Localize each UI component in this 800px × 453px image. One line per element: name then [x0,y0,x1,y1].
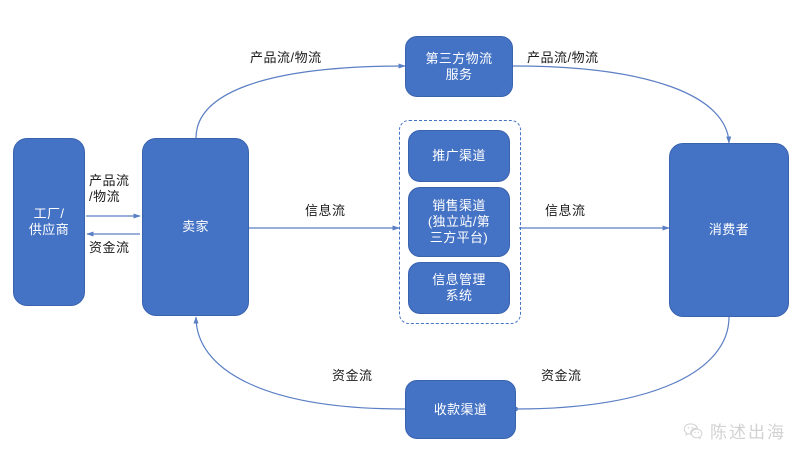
label-capital-flow-bottom-right: 资金流 [541,368,582,384]
wechat-icon [682,420,704,442]
node-seller-label: 卖家 [143,219,248,235]
label-product-flow-top-left: 产品流/物流 [250,50,322,66]
watermark-text: 陈述出海 [710,418,786,443]
label-info-flow-right: 信息流 [545,203,586,219]
node-factory-supplier[interactable]: 工厂/ 供应商 [13,138,85,306]
edge-logistics-to-consumer-product [513,66,729,143]
node-logistics-label-1: 第三方物流 [406,51,512,67]
node-seller[interactable]: 卖家 [142,138,249,316]
edge-payment-to-seller-capital [196,317,405,409]
node-payment-label: 收款渠道 [406,402,515,418]
node-consumer-label: 消费者 [670,222,788,238]
node-sales-label-3: 三方平台) [409,230,509,246]
node-sales-label-2: (独立站/第 [409,214,509,230]
edge-consumer-to-payment-capital [516,317,729,409]
node-payment-channel[interactable]: 收款渠道 [405,380,516,439]
node-third-party-logistics[interactable]: 第三方物流 服务 [405,36,513,97]
node-sales-channel[interactable]: 销售渠道 (独立站/第 三方平台) [408,187,510,257]
node-sales-label-1: 销售渠道 [409,198,509,214]
node-factory-label-1: 工厂/ [14,206,84,222]
node-consumer[interactable]: 消费者 [669,143,789,317]
label-product-flow-factory-1: 产品流 [89,173,147,189]
node-info-system-label-1: 信息管理 [409,272,509,288]
node-factory-label-2: 供应商 [14,222,84,238]
watermark: 陈述出海 [682,418,786,443]
edge-seller-to-logistics-product [196,66,405,138]
node-logistics-label-2: 服务 [406,67,512,83]
label-capital-flow-factory: 资金流 [89,240,130,256]
label-product-flow-factory-2: /物流 [89,189,147,205]
node-info-system-label-2: 系统 [409,288,509,304]
diagram-canvas: 工厂/ 供应商 卖家 第三方物流 服务 推广渠道 销售渠道 (独立站/第 三方平… [0,0,800,453]
label-info-flow-left: 信息流 [305,203,346,219]
label-product-flow-top-right: 产品流/物流 [527,50,599,66]
node-promotion-channel[interactable]: 推广渠道 [408,130,510,182]
node-promotion-label: 推广渠道 [409,148,509,164]
label-capital-flow-bottom-left: 资金流 [332,368,373,384]
node-information-management-system[interactable]: 信息管理 系统 [408,262,510,314]
label-product-flow-factory: 产品流 /物流 [89,173,147,206]
